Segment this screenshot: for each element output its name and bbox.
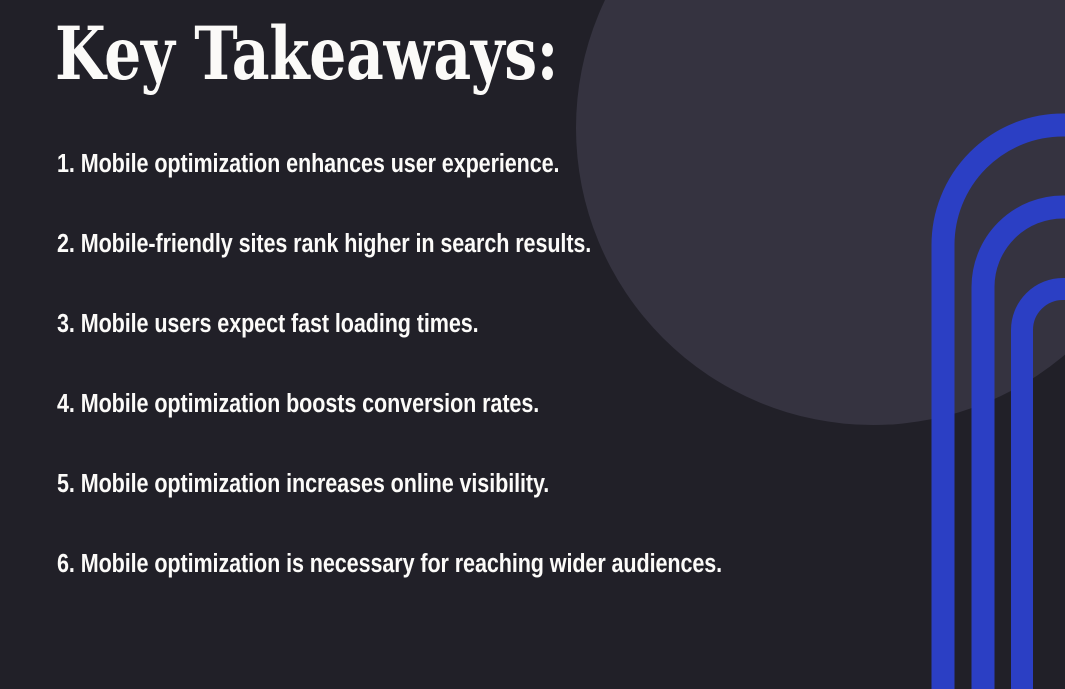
takeaway-text: 2. Mobile-friendly sites rank higher in … bbox=[57, 232, 591, 258]
arch-inner bbox=[1022, 289, 1065, 689]
takeaways-list: 1. Mobile optimization enhances user exp… bbox=[57, 152, 987, 632]
list-item: 5. Mobile optimization increases online … bbox=[57, 472, 987, 552]
list-item: 3. Mobile users expect fast loading time… bbox=[57, 312, 987, 392]
takeaway-text: 3. Mobile users expect fast loading time… bbox=[57, 312, 479, 338]
page-title: Key Takeaways: bbox=[55, 14, 558, 96]
takeaway-text: 5. Mobile optimization increases online … bbox=[57, 472, 549, 498]
list-item: 1. Mobile optimization enhances user exp… bbox=[57, 152, 987, 232]
slide-canvas: Key Takeaways: 1. Mobile optimization en… bbox=[0, 0, 1065, 689]
arch-middle bbox=[983, 207, 1065, 689]
takeaway-text: 6. Mobile optimization is necessary for … bbox=[57, 552, 722, 578]
takeaway-text: 4. Mobile optimization boosts conversion… bbox=[57, 392, 539, 418]
list-item: 2. Mobile-friendly sites rank higher in … bbox=[57, 232, 987, 312]
takeaway-text: 1. Mobile optimization enhances user exp… bbox=[57, 152, 559, 178]
list-item: 6. Mobile optimization is necessary for … bbox=[57, 552, 987, 632]
list-item: 4. Mobile optimization boosts conversion… bbox=[57, 392, 987, 472]
